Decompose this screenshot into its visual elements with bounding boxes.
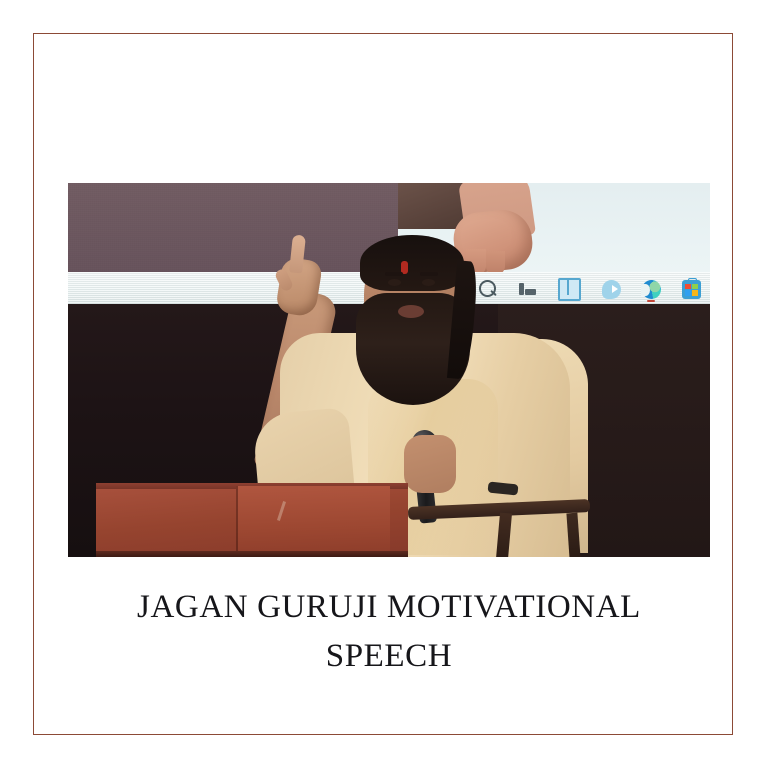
- speaker-eyebrow: [420, 272, 438, 276]
- poster-canvas: JAGAN GURUJI MOTIVATIONAL SPEECH: [0, 0, 768, 768]
- widgets-icon[interactable]: [558, 278, 581, 301]
- edge-icon[interactable]: [642, 280, 661, 299]
- podium-table-panel: [236, 486, 390, 557]
- event-photograph: [68, 183, 710, 557]
- caption-line-1: JAGAN GURUJI MOTIVATIONAL: [68, 583, 710, 632]
- speaker-hair: [360, 235, 464, 291]
- caption-line-2: SPEECH: [68, 632, 710, 681]
- microsoft-store-icon[interactable]: [682, 280, 701, 299]
- podium-table-edge: [96, 551, 408, 557]
- poster-caption: JAGAN GURUJI MOTIVATIONAL SPEECH: [68, 583, 710, 681]
- speaker-mouth: [398, 305, 424, 318]
- chat-icon[interactable]: [602, 280, 621, 299]
- speaker-eyebrow: [385, 272, 403, 276]
- speaker-eye: [388, 279, 401, 286]
- task-view-icon[interactable]: [518, 280, 537, 299]
- speaker-eye: [422, 279, 435, 286]
- search-icon[interactable]: [478, 280, 497, 299]
- speaker-hand-holding-mic: [404, 435, 456, 493]
